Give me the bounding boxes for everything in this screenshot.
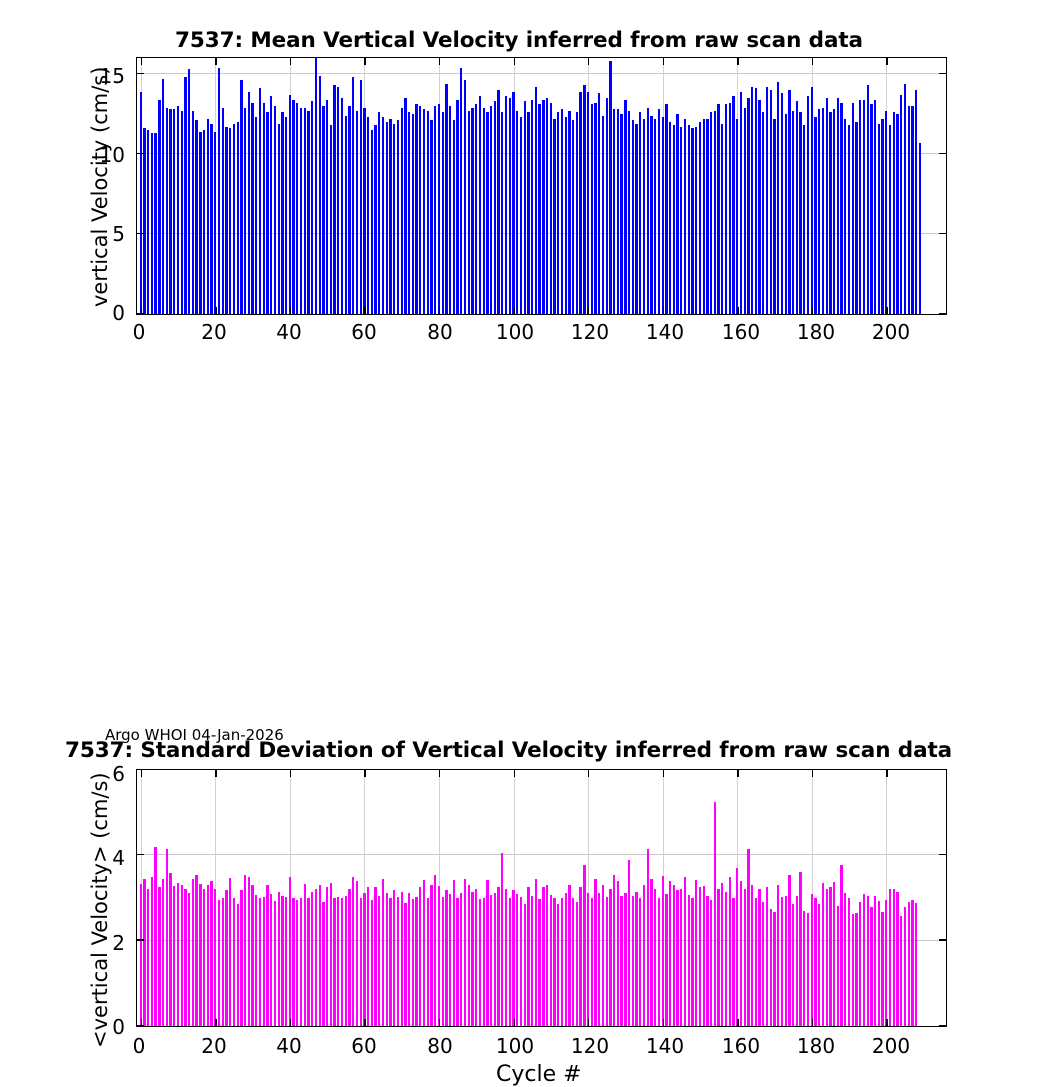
axis-tick-y bbox=[137, 233, 144, 234]
axis-tick-x-top bbox=[290, 58, 291, 65]
std-xtick-0: 0 bbox=[133, 1034, 146, 1058]
bar bbox=[770, 909, 772, 1026]
bar bbox=[889, 889, 891, 1026]
bar bbox=[270, 96, 272, 314]
bar bbox=[319, 885, 321, 1026]
bar bbox=[792, 111, 794, 314]
axis-tick-y-right bbox=[939, 939, 946, 940]
bar bbox=[412, 114, 414, 314]
bar bbox=[553, 119, 555, 314]
std-ytick-0: 0 bbox=[100, 1015, 125, 1039]
axis-tick-x bbox=[215, 307, 216, 314]
bar bbox=[755, 898, 757, 1026]
bar bbox=[505, 96, 507, 314]
bar bbox=[218, 68, 220, 314]
bar bbox=[278, 124, 280, 314]
bar bbox=[654, 889, 656, 1026]
bar bbox=[259, 88, 261, 314]
bar bbox=[572, 898, 574, 1026]
bar bbox=[512, 92, 514, 314]
bar bbox=[363, 893, 365, 1026]
axis-tick-x-top bbox=[439, 58, 440, 65]
axis-tick-x-top bbox=[663, 770, 664, 777]
axis-tick-x-top bbox=[141, 58, 142, 65]
bar bbox=[881, 119, 883, 314]
axis-tick-y bbox=[137, 939, 144, 940]
bar bbox=[609, 889, 611, 1026]
bar bbox=[632, 120, 634, 314]
bar bbox=[829, 112, 831, 314]
axis-tick-y-right bbox=[939, 153, 946, 154]
bar bbox=[266, 885, 268, 1026]
axis-tick-x-top bbox=[812, 58, 813, 65]
mean-xtick-200: 200 bbox=[872, 320, 910, 344]
bar bbox=[725, 104, 727, 314]
std-xtick-200: 200 bbox=[872, 1034, 910, 1058]
bar bbox=[337, 897, 339, 1026]
figure-footer: Argo WHOI 04-Jan-2026 bbox=[105, 726, 284, 744]
bar bbox=[471, 108, 473, 314]
bar bbox=[509, 98, 511, 314]
bar bbox=[352, 877, 354, 1026]
bar bbox=[337, 87, 339, 314]
bar bbox=[319, 76, 321, 314]
bar bbox=[729, 877, 731, 1026]
bar bbox=[524, 101, 526, 314]
bar bbox=[818, 904, 820, 1026]
std-xtick-80: 80 bbox=[427, 1034, 452, 1058]
bar bbox=[822, 108, 824, 314]
bar bbox=[210, 124, 212, 314]
bar bbox=[867, 85, 869, 314]
bar bbox=[151, 877, 153, 1026]
mean-ytick-5: 5 bbox=[100, 222, 125, 246]
bar bbox=[158, 100, 160, 314]
bar bbox=[501, 853, 503, 1026]
bar bbox=[430, 120, 432, 314]
bar bbox=[356, 881, 358, 1026]
bar bbox=[594, 879, 596, 1026]
bar bbox=[490, 106, 492, 314]
mean-xtick-120: 120 bbox=[571, 320, 609, 344]
bar bbox=[315, 889, 317, 1026]
bar bbox=[777, 82, 779, 314]
bar bbox=[874, 100, 876, 314]
bar bbox=[833, 882, 835, 1026]
bar bbox=[583, 865, 585, 1026]
bar bbox=[609, 61, 611, 314]
bar bbox=[263, 103, 265, 314]
bar bbox=[706, 896, 708, 1026]
bar bbox=[166, 108, 168, 314]
bar bbox=[162, 879, 164, 1026]
bar bbox=[378, 112, 380, 314]
bar bbox=[330, 883, 332, 1026]
bar bbox=[281, 112, 283, 314]
bar bbox=[863, 100, 865, 314]
bar bbox=[751, 87, 753, 314]
bar bbox=[404, 98, 406, 314]
bar bbox=[483, 108, 485, 314]
bar bbox=[401, 892, 403, 1026]
bar bbox=[885, 111, 887, 314]
bar bbox=[662, 876, 664, 1026]
axis-tick-x-top bbox=[290, 770, 291, 777]
bar bbox=[203, 889, 205, 1026]
bar bbox=[691, 898, 693, 1026]
axis-tick-x-top bbox=[812, 770, 813, 777]
bar bbox=[468, 885, 470, 1026]
bar bbox=[278, 892, 280, 1026]
axis-tick-y-right bbox=[939, 233, 946, 234]
bar bbox=[397, 120, 399, 314]
bar bbox=[788, 875, 790, 1026]
panel-std-velocity: 7537: Standard Deviation of Vertical Vel… bbox=[0, 360, 1050, 750]
bar bbox=[688, 895, 690, 1026]
bar bbox=[285, 117, 287, 314]
bar bbox=[300, 898, 302, 1026]
bar bbox=[497, 90, 499, 314]
bar bbox=[367, 117, 369, 314]
mean-xtick-60: 60 bbox=[351, 320, 376, 344]
std-ytick-4: 4 bbox=[100, 846, 125, 870]
bar bbox=[844, 893, 846, 1026]
mean-y-axis-label: vertical Velocity (cm/s) bbox=[88, 67, 112, 307]
bar bbox=[341, 898, 343, 1026]
bar bbox=[203, 130, 205, 314]
bar bbox=[587, 92, 589, 314]
bar bbox=[751, 885, 753, 1026]
axis-tick-x bbox=[886, 1019, 887, 1026]
bar bbox=[591, 104, 593, 314]
bar bbox=[662, 117, 664, 314]
bar bbox=[169, 873, 171, 1026]
bar bbox=[184, 77, 186, 314]
bar bbox=[229, 128, 231, 314]
mean-plot-title: 7537: Mean Vertical Velocity inferred fr… bbox=[175, 28, 863, 53]
bar bbox=[423, 880, 425, 1026]
bar bbox=[356, 111, 358, 314]
bar bbox=[389, 898, 391, 1026]
bar bbox=[837, 906, 839, 1026]
bar bbox=[449, 894, 451, 1026]
bar bbox=[382, 117, 384, 314]
bar bbox=[456, 100, 458, 314]
bar bbox=[374, 887, 376, 1026]
bar bbox=[438, 886, 440, 1026]
bar bbox=[628, 111, 630, 314]
bar bbox=[292, 100, 294, 314]
bar bbox=[445, 84, 447, 314]
bar bbox=[285, 897, 287, 1026]
bar bbox=[885, 900, 887, 1026]
bar bbox=[699, 122, 701, 314]
bar bbox=[449, 106, 451, 314]
bar bbox=[195, 875, 197, 1026]
bar bbox=[911, 900, 913, 1026]
bar bbox=[598, 893, 600, 1026]
bar bbox=[673, 125, 675, 314]
bar bbox=[374, 125, 376, 314]
std-xtick-180: 180 bbox=[797, 1034, 835, 1058]
bar bbox=[725, 892, 727, 1026]
bar bbox=[479, 96, 481, 314]
bar bbox=[647, 849, 649, 1026]
bar bbox=[773, 912, 775, 1026]
std-x-axis-label: Cycle # bbox=[496, 1062, 582, 1087]
bar bbox=[680, 889, 682, 1026]
bar bbox=[486, 880, 488, 1026]
mean-xtick-100: 100 bbox=[496, 320, 534, 344]
axis-tick-x bbox=[886, 307, 887, 314]
bar bbox=[620, 896, 622, 1026]
bar bbox=[274, 106, 276, 314]
bar bbox=[691, 128, 693, 314]
bar bbox=[404, 903, 406, 1026]
bar bbox=[654, 119, 656, 314]
bar bbox=[173, 886, 175, 1026]
bar bbox=[710, 112, 712, 314]
mean-xtick-40: 40 bbox=[276, 320, 301, 344]
bar bbox=[434, 875, 436, 1026]
bar bbox=[382, 879, 384, 1026]
bar bbox=[445, 890, 447, 1026]
bar bbox=[755, 88, 757, 314]
mean-xtick-180: 180 bbox=[797, 320, 835, 344]
bar bbox=[747, 849, 749, 1026]
bar bbox=[870, 104, 872, 314]
bar bbox=[386, 122, 388, 314]
bar bbox=[740, 92, 742, 314]
bar bbox=[192, 111, 194, 314]
bar bbox=[703, 119, 705, 314]
bar bbox=[546, 885, 548, 1026]
bar bbox=[199, 884, 201, 1026]
bar bbox=[266, 112, 268, 314]
bar bbox=[896, 114, 898, 314]
bar bbox=[501, 112, 503, 314]
bar bbox=[505, 889, 507, 1026]
mean-plot-area bbox=[136, 57, 947, 315]
bar bbox=[893, 889, 895, 1026]
bar bbox=[177, 883, 179, 1026]
bar bbox=[348, 106, 350, 314]
bar bbox=[550, 895, 552, 1026]
bar bbox=[538, 899, 540, 1026]
bar bbox=[412, 899, 414, 1026]
axis-tick-y-right bbox=[939, 73, 946, 74]
bar bbox=[177, 106, 179, 314]
bar bbox=[613, 875, 615, 1026]
axis-tick-x-top bbox=[364, 770, 365, 777]
bar bbox=[576, 112, 578, 314]
bar bbox=[486, 112, 488, 314]
bar bbox=[721, 883, 723, 1026]
bar bbox=[788, 90, 790, 314]
bar bbox=[214, 132, 216, 314]
bar bbox=[229, 878, 231, 1026]
axis-tick-x-top bbox=[439, 770, 440, 777]
bar bbox=[706, 119, 708, 314]
bar bbox=[483, 898, 485, 1026]
bar bbox=[673, 885, 675, 1026]
axis-tick-x bbox=[737, 307, 738, 314]
bar bbox=[781, 93, 783, 314]
bar bbox=[218, 900, 220, 1026]
bar bbox=[535, 87, 537, 314]
bar bbox=[326, 100, 328, 314]
bar bbox=[688, 125, 690, 314]
bar bbox=[367, 887, 369, 1026]
axis-tick-x-top bbox=[588, 58, 589, 65]
bar-series bbox=[137, 58, 946, 314]
bar bbox=[632, 896, 634, 1026]
bar bbox=[814, 117, 816, 314]
bar bbox=[587, 893, 589, 1026]
bar bbox=[904, 84, 906, 314]
std-xtick-40: 40 bbox=[276, 1034, 301, 1058]
bar bbox=[214, 889, 216, 1026]
bar bbox=[785, 114, 787, 314]
std-xtick-60: 60 bbox=[351, 1034, 376, 1058]
bar bbox=[408, 893, 410, 1026]
bar bbox=[345, 896, 347, 1026]
bar bbox=[635, 892, 637, 1026]
bar bbox=[311, 892, 313, 1026]
bar bbox=[844, 119, 846, 314]
bar bbox=[900, 916, 902, 1026]
bar bbox=[721, 124, 723, 314]
bar bbox=[184, 889, 186, 1026]
bar bbox=[371, 130, 373, 314]
bar bbox=[296, 900, 298, 1026]
bar bbox=[568, 885, 570, 1026]
bar bbox=[531, 100, 533, 314]
bar bbox=[255, 117, 257, 314]
bar bbox=[714, 802, 716, 1026]
bar bbox=[665, 104, 667, 314]
bar bbox=[650, 116, 652, 314]
std-ytick-6: 6 bbox=[100, 762, 125, 786]
bar bbox=[397, 897, 399, 1026]
bar bbox=[729, 103, 731, 314]
bar bbox=[565, 117, 567, 314]
bar bbox=[859, 902, 861, 1026]
bar bbox=[143, 879, 145, 1026]
bar bbox=[490, 895, 492, 1026]
bar bbox=[225, 127, 227, 314]
bar bbox=[840, 103, 842, 314]
bar bbox=[893, 112, 895, 314]
axis-tick-y bbox=[137, 73, 144, 74]
bar bbox=[542, 887, 544, 1026]
bar bbox=[908, 106, 910, 314]
bar bbox=[803, 911, 805, 1026]
bar bbox=[777, 885, 779, 1026]
axis-tick-x bbox=[663, 307, 664, 314]
bar bbox=[695, 127, 697, 314]
axis-tick-y bbox=[137, 854, 144, 855]
bar bbox=[181, 885, 183, 1026]
bar bbox=[154, 847, 156, 1026]
bar bbox=[855, 913, 857, 1026]
bar bbox=[289, 95, 291, 314]
bar bbox=[561, 109, 563, 314]
axis-tick-y-right bbox=[939, 769, 946, 770]
bar bbox=[833, 109, 835, 314]
bar bbox=[195, 120, 197, 314]
bar bbox=[792, 904, 794, 1026]
bar bbox=[744, 889, 746, 1026]
bar bbox=[173, 109, 175, 314]
mean-xtick-0: 0 bbox=[133, 320, 146, 344]
bar bbox=[378, 896, 380, 1026]
mean-xtick-160: 160 bbox=[722, 320, 760, 344]
bar bbox=[565, 893, 567, 1026]
bar bbox=[766, 887, 768, 1026]
axis-tick-x bbox=[514, 1019, 515, 1026]
bar bbox=[512, 890, 514, 1026]
bar bbox=[154, 133, 156, 314]
bar bbox=[695, 880, 697, 1026]
bar bbox=[606, 98, 608, 314]
axis-tick-x bbox=[439, 307, 440, 314]
bar bbox=[438, 104, 440, 314]
axis-tick-x bbox=[290, 307, 291, 314]
axis-tick-y-right bbox=[939, 854, 946, 855]
bar bbox=[758, 100, 760, 314]
bar bbox=[602, 885, 604, 1026]
bar bbox=[434, 106, 436, 314]
bar bbox=[188, 69, 190, 314]
bar bbox=[248, 877, 250, 1026]
bar bbox=[908, 902, 910, 1026]
bar bbox=[292, 898, 294, 1026]
bar bbox=[617, 881, 619, 1026]
axis-tick-y-right bbox=[939, 313, 946, 314]
bar bbox=[796, 101, 798, 314]
bar bbox=[263, 897, 265, 1026]
bar bbox=[251, 885, 253, 1026]
bar bbox=[304, 884, 306, 1026]
bar bbox=[527, 112, 529, 314]
bar bbox=[762, 112, 764, 314]
mean-xtick-20: 20 bbox=[201, 320, 226, 344]
bar bbox=[166, 849, 168, 1026]
bar bbox=[550, 103, 552, 314]
bar bbox=[248, 92, 250, 314]
bar bbox=[773, 119, 775, 314]
bar bbox=[639, 898, 641, 1026]
bar bbox=[568, 111, 570, 314]
bar bbox=[393, 124, 395, 314]
bar bbox=[624, 893, 626, 1026]
bar bbox=[736, 119, 738, 314]
axis-tick-x-top bbox=[737, 58, 738, 65]
bar bbox=[714, 111, 716, 314]
bar bbox=[639, 112, 641, 314]
bar bbox=[307, 898, 309, 1026]
bar bbox=[456, 898, 458, 1026]
bar bbox=[471, 892, 473, 1026]
bar bbox=[225, 890, 227, 1026]
std-plot-area bbox=[136, 769, 947, 1027]
bar bbox=[389, 119, 391, 314]
bar bbox=[643, 119, 645, 314]
bar bbox=[322, 106, 324, 314]
bar bbox=[244, 108, 246, 314]
bar bbox=[401, 108, 403, 314]
